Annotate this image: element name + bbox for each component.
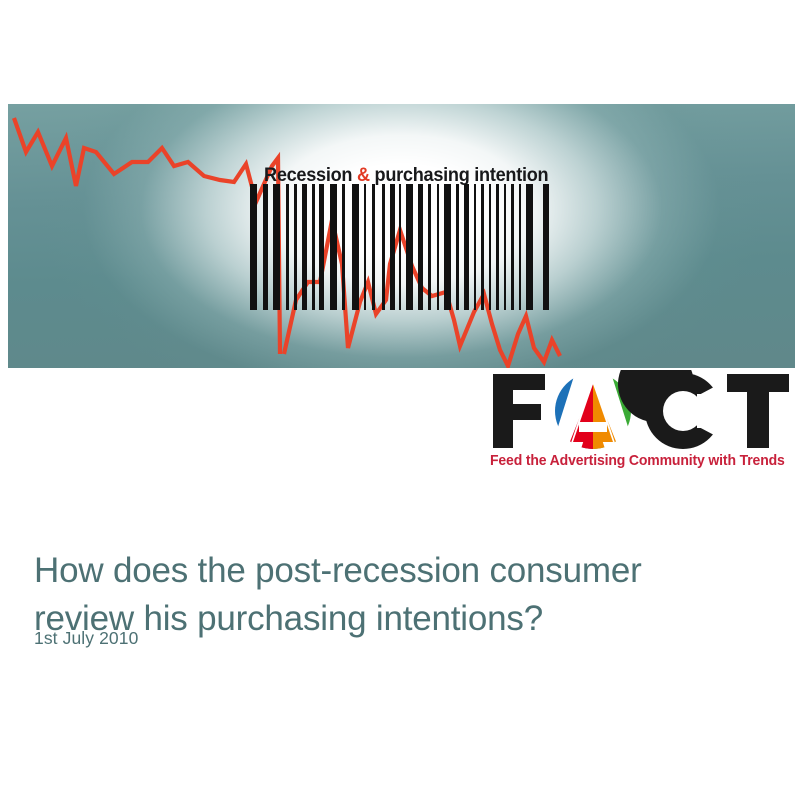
- slide-date: 1st July 2010: [34, 628, 138, 649]
- barcode-bars: [246, 184, 562, 310]
- page-title-line-2: review his purchasing intentions?: [34, 595, 764, 643]
- hero-banner: Recession & purchasing intention: [8, 104, 795, 368]
- page-title-line-1: How does the post-recession consumer: [34, 547, 764, 595]
- fact-logo-tagline: Feed the Advertising Community with Tren…: [490, 453, 783, 469]
- barcode-graphic: Recession & purchasing intention: [246, 160, 562, 310]
- barcode-title-prefix: Recession: [264, 164, 357, 186]
- fact-wordmark: [487, 370, 795, 452]
- logo-letter-f: [493, 374, 545, 448]
- barcode-title-suffix: purchasing intention: [370, 164, 549, 186]
- barcode-bar-group: [250, 184, 549, 310]
- logo-letter-t: [727, 374, 789, 448]
- trend-line-left: [14, 118, 280, 354]
- page-title: How does the post-recession consumer rev…: [34, 547, 764, 643]
- barcode-title-ampersand: &: [357, 164, 370, 186]
- fact-logo: Feed the Advertising Community with Tren…: [487, 370, 795, 478]
